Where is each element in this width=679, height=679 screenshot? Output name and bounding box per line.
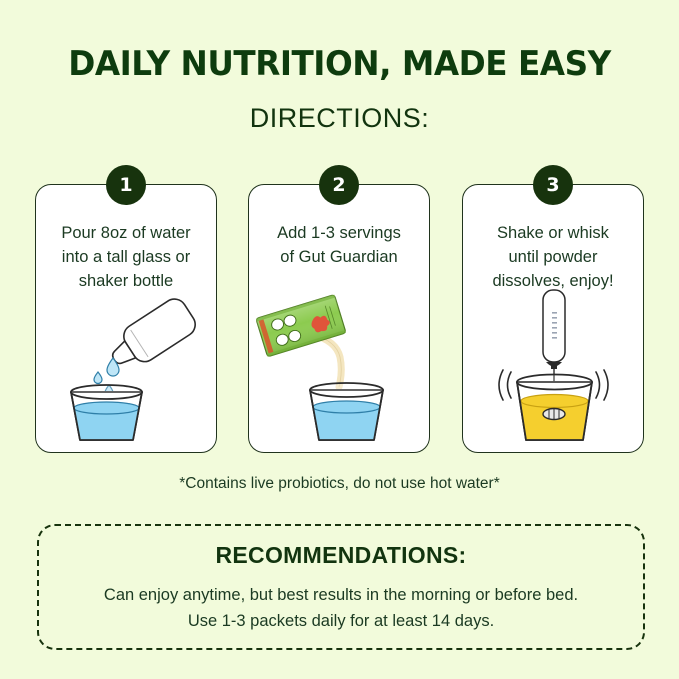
step-number-badge-3: 3	[533, 165, 573, 205]
directions-subtitle: DIRECTIONS:	[0, 103, 679, 134]
step-number-badge-2: 2	[319, 165, 359, 205]
directions-infographic: DAILY NUTRITION, MADE EASY DIRECTIONS: 1…	[0, 0, 679, 679]
steps-container: 1 Pour 8oz of water into a tall glass or…	[35, 184, 645, 454]
recommendations-body: Can enjoy anytime, but best results in t…	[39, 582, 643, 635]
step-text-2: Add 1-3 servings of Gut Guardian	[257, 222, 421, 270]
step-illustration-3	[463, 286, 643, 446]
step-illustration-2	[249, 286, 429, 446]
step-text-1: Pour 8oz of water into a tall glass or s…	[44, 222, 208, 294]
milk-frother-whisking-icon	[466, 288, 641, 446]
recommendations-title: RECOMMENDATIONS:	[39, 542, 643, 569]
sachet-pouring-powder-icon	[252, 288, 427, 446]
step-illustration-1	[36, 286, 216, 446]
step-text-3: Shake or whisk until powder dissolves, e…	[471, 222, 635, 294]
step-card-3: 3 Shake or whisk until powder dissolves,…	[462, 184, 644, 453]
step-number-badge-1: 1	[106, 165, 146, 205]
step-card-1: 1 Pour 8oz of water into a tall glass or…	[35, 184, 217, 453]
step-card-2: 2 Add 1-3 servings of Gut Guardian	[248, 184, 430, 453]
bottle-pouring-water-icon	[39, 288, 214, 446]
recommendations-box: RECOMMENDATIONS: Can enjoy anytime, but …	[37, 524, 645, 650]
page-title: DAILY NUTRITION, MADE EASY	[14, 44, 666, 84]
footnote-text: *Contains live probiotics, do not use ho…	[0, 475, 679, 493]
